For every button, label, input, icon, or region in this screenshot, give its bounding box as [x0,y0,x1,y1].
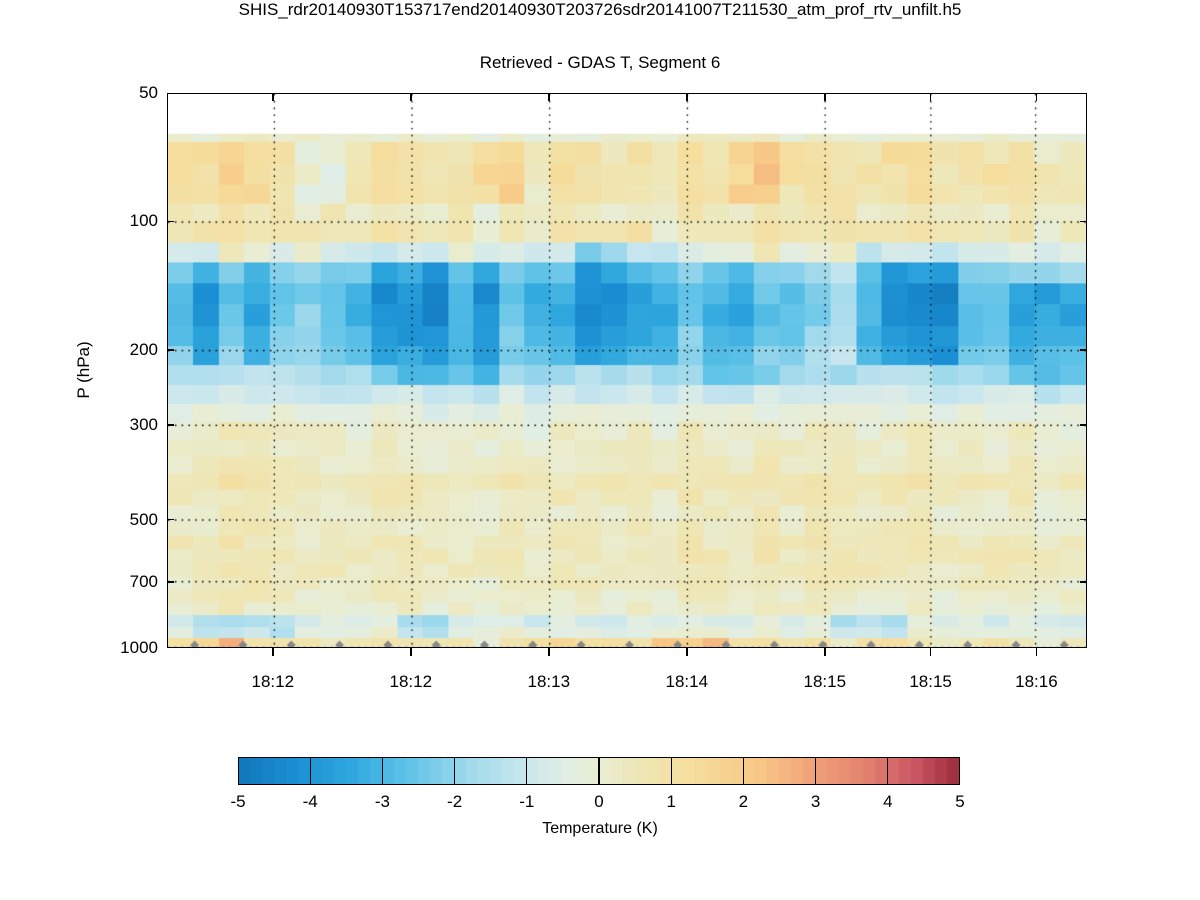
x-tick-mark [272,648,274,656]
colorbar-tick-label-2: -3 [375,792,390,812]
x-tick-mark [1036,648,1038,656]
title-line-1: SHIS_rdr20140930T153717end20140930T20372… [0,0,1200,20]
y-tick-label-50: 50 [88,83,158,103]
x-tick-mark [686,648,688,656]
title-line-2: Retrieved - GDAS T, Segment 6 [0,53,1200,73]
colorbar-tick-mark [743,757,744,785]
colorbar-tick-label-4: -1 [519,792,534,812]
y-axis-label: P (hPa) [74,341,94,398]
heatmap-plot-area [167,93,1087,648]
heatmap-canvas [168,94,1086,647]
x-tick-label-1: 18:12 [390,672,433,692]
colorbar-tick-mark [815,757,816,785]
x-tick-label-2: 18:13 [528,672,571,692]
colorbar-tick-label-9: 4 [883,792,892,812]
colorbar-tick-mark [526,757,527,785]
y-tick-label-500: 500 [88,510,158,530]
y-tick-label-300: 300 [88,415,158,435]
y-tick-label-700: 700 [88,572,158,592]
y-tick-label-200: 200 [88,340,158,360]
colorbar-tick-label-8: 3 [811,792,820,812]
colorbar-tick-mark [887,757,888,785]
colorbar-tick-mark [382,757,383,785]
y-tick-label-1000: 1000 [88,638,158,658]
colorbar-tick-mark [598,757,599,785]
x-tick-mark [410,648,412,656]
x-tick-label-4: 18:15 [804,672,847,692]
colorbar-tick-label-1: -4 [303,792,318,812]
x-tick-label-5: 18:15 [909,672,952,692]
x-tick-mark [930,648,932,656]
x-tick-label-0: 18:12 [252,672,295,692]
x-tick-mark [548,648,550,656]
colorbar-tick-label-6: 1 [666,792,675,812]
x-tick-mark [824,648,826,656]
colorbar-tick-label-5: 0 [594,792,603,812]
colorbar-tick-label-7: 2 [739,792,748,812]
colorbar-tick-label-3: -2 [447,792,462,812]
colorbar-tick-mark [671,757,672,785]
colorbar-tick-label-0: -5 [230,792,245,812]
colorbar [238,757,960,785]
x-tick-label-6: 18:16 [1015,672,1058,692]
colorbar-tick-mark [310,757,311,785]
x-tick-label-3: 18:14 [666,672,709,692]
colorbar-title: Temperature (K) [0,820,1200,838]
colorbar-tick-mark [454,757,455,785]
y-tick-label-100: 100 [88,211,158,231]
colorbar-tick-label-10: 5 [955,792,964,812]
